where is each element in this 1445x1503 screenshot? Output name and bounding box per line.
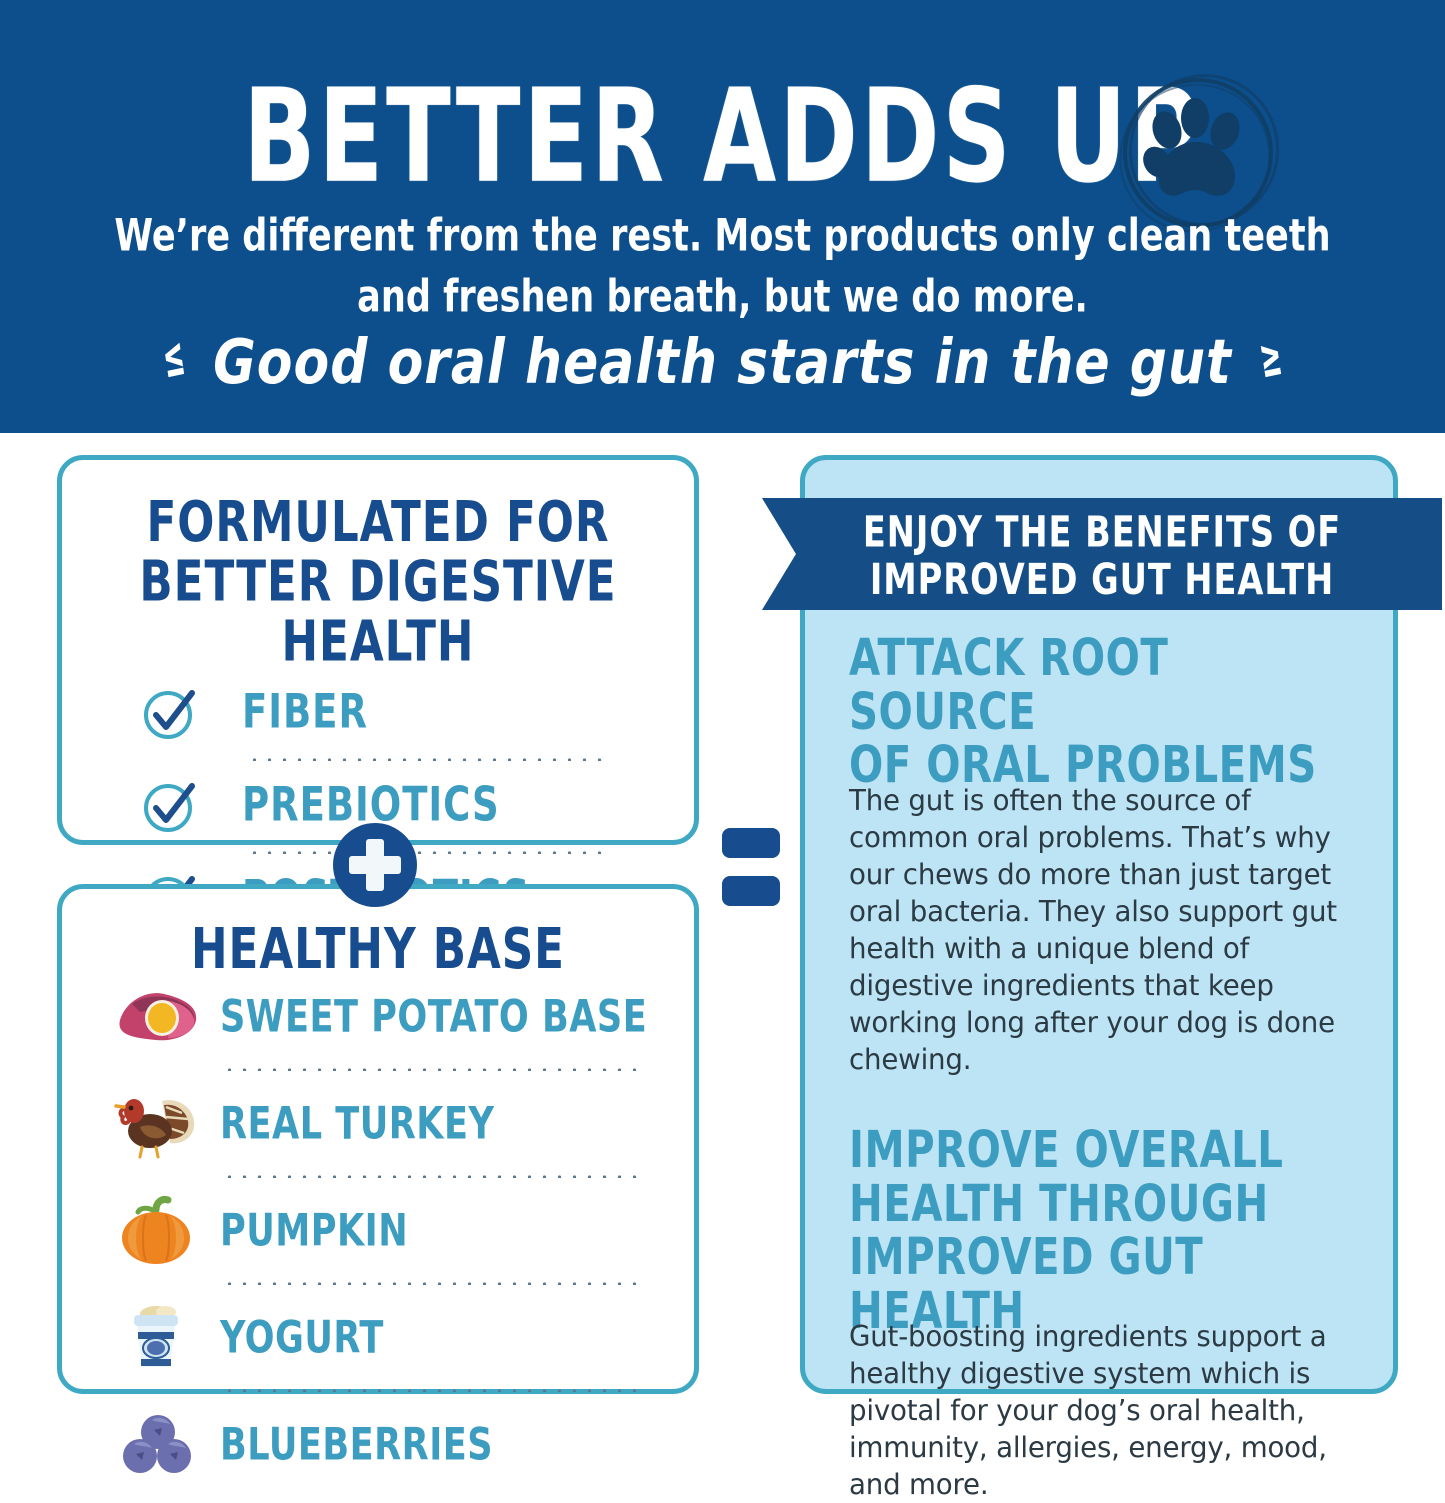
ribbon-line-2: IMPROVED GUT HEALTH — [870, 557, 1334, 606]
formulated-card: FORMULATED FOR BETTER DIGESTIVE HEALTH F… — [57, 455, 699, 845]
list-item: REAL TURKEY — [62, 1085, 694, 1161]
tagline-mark-left: ≤ — [159, 323, 190, 390]
list-item: FIBER — [62, 682, 694, 744]
ribbon-title: ENJOY THE BENEFITS OF IMPROVED GUT HEALT… — [776, 510, 1429, 606]
plus-icon — [333, 823, 417, 907]
benefit-section-1: ATTACK ROOT SOURCE OF ORAL PROBLEMS The … — [849, 632, 1361, 1078]
ingredient-list: SWEET POTATO BASE REAL TURKEY — [62, 978, 694, 1482]
yogurt-cup-icon — [112, 1301, 204, 1373]
pumpkin-icon — [112, 1194, 204, 1266]
section-body-text: Gut-boosting ingredients support a healt… — [849, 1318, 1346, 1503]
check-circle-icon — [142, 778, 198, 834]
header-subtitle: We’re different from the rest. Most prod… — [72, 207, 1373, 328]
subtitle-line-1: We’re different from the rest. Most prod… — [114, 210, 1330, 262]
section-heading-line-1: IMPROVE OVERALL — [849, 1120, 1283, 1179]
list-item: BLUEBERRIES — [62, 1406, 694, 1482]
section-heading-line-1: ATTACK ROOT SOURCE — [849, 628, 1168, 740]
turkey-icon — [112, 1087, 204, 1159]
list-item-label: BLUEBERRIES — [220, 1418, 493, 1470]
equals-bar-top — [722, 828, 780, 858]
list-item: YOGURT — [62, 1299, 694, 1375]
header-banner: BETTER ADDS UP We’re different from the … — [0, 0, 1445, 433]
formulated-card-title: FORMULATED FOR BETTER DIGESTIVE HEALTH — [78, 492, 678, 672]
healthy-base-card-title: HEALTHY BASE — [78, 919, 678, 979]
section-heading: ATTACK ROOT SOURCE OF ORAL PROBLEMS — [849, 632, 1341, 792]
divider-dotted — [247, 851, 609, 854]
divider-dotted — [222, 1389, 646, 1392]
list-item-label: SWEET POTATO BASE — [220, 990, 647, 1042]
tagline-mark-right: ≥ — [1255, 323, 1286, 390]
paw-glyph — [1143, 96, 1253, 208]
ribbon-line-1: ENJOY THE BENEFITS OF — [863, 509, 1341, 558]
list-item-label: FIBER — [242, 686, 368, 740]
script-tagline: ≤ Good oral health starts in the gut ≥ — [0, 325, 1445, 398]
section-body-text: The gut is often the source of common or… — [849, 782, 1346, 1078]
list-item-label: REAL TURKEY — [220, 1097, 494, 1149]
check-circle-icon — [142, 685, 198, 741]
equals-sign-icon — [722, 828, 780, 908]
section-heading-line-2: HEALTH THROUGH — [849, 1174, 1269, 1233]
equals-bar-bottom — [722, 876, 780, 906]
section-spacer — [849, 1078, 1361, 1124]
healthy-base-card: HEALTHY BASE SWEET POTATO BASE — [57, 884, 699, 1394]
list-item: SWEET POTATO BASE — [62, 978, 694, 1054]
divider-dotted — [222, 1282, 646, 1285]
divider-dotted — [222, 1175, 646, 1178]
list-item-label: YOGURT — [220, 1311, 384, 1363]
section-heading: IMPROVE OVERALL HEALTH THROUGH IMPROVED … — [849, 1124, 1341, 1338]
divider-dotted — [222, 1068, 646, 1071]
sweet-potato-icon — [112, 980, 204, 1052]
benefit-section-2: IMPROVE OVERALL HEALTH THROUGH IMPROVED … — [849, 1124, 1361, 1503]
list-item-label: PUMPKIN — [220, 1204, 408, 1256]
benefits-panel: ENJOY THE BENEFITS OF IMPROVED GUT HEALT… — [800, 455, 1398, 1394]
list-item: PUMPKIN — [62, 1192, 694, 1268]
benefits-content: ATTACK ROOT SOURCE OF ORAL PROBLEMS The … — [849, 632, 1361, 1503]
tagline-text: Good oral health starts in the gut — [213, 327, 1232, 398]
benefits-ribbon: ENJOY THE BENEFITS OF IMPROVED GUT HEALT… — [762, 498, 1442, 610]
subtitle-line-2: and freshen breath, but we do more. — [357, 271, 1088, 323]
blueberries-icon — [112, 1408, 204, 1480]
divider-dotted — [247, 758, 609, 761]
